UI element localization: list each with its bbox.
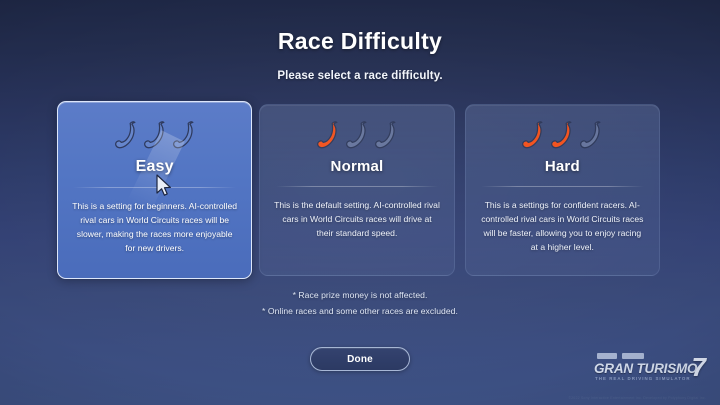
copyright-text: ©2022 Sony Interactive Entertainment Inc…: [568, 396, 706, 400]
difficulty-card-list: Easy This is a setting for beginners. AI…: [60, 104, 660, 276]
gran-turismo-logo: GRAN TURISMO 7 THE REAL DRIVING SIMULATO…: [594, 353, 706, 387]
chili-pepper-empty-icon: [173, 120, 195, 151]
chili-pepper-empty-icon: [144, 120, 166, 151]
chili-pepper-empty-icon: [346, 120, 368, 151]
mouse-cursor: [155, 174, 173, 198]
chili-pepper-empty-icon: [115, 120, 137, 151]
logo-seven: 7: [692, 354, 706, 380]
page-title: Race Difficulty: [0, 28, 720, 55]
footnote-list: * Race prize money is not affected. * On…: [0, 288, 720, 320]
pepper-rating-easy: [115, 115, 195, 155]
chili-pepper-empty-icon: [375, 120, 397, 151]
chili-pepper-empty-icon: [580, 120, 602, 151]
footnote-item: * Race prize money is not affected.: [0, 288, 720, 304]
logo-tagline: THE REAL DRIVING SIMULATOR: [595, 376, 691, 381]
chili-pepper-filled-icon: [317, 120, 339, 151]
difficulty-description-easy: This is a setting for beginners. AI-cont…: [72, 200, 238, 256]
difficulty-description-normal: This is the default setting. AI-controll…: [274, 199, 440, 241]
chili-pepper-filled-icon: [551, 120, 573, 151]
difficulty-card-normal[interactable]: Normal This is the default setting. AI-c…: [259, 104, 454, 276]
pepper-rating-normal: [317, 115, 397, 155]
difficulty-label-hard: Hard: [545, 158, 580, 175]
game-screen: Race Difficulty Please select a race dif…: [0, 0, 720, 405]
footnote-item: * Online races and some other races are …: [0, 304, 720, 320]
difficulty-description-hard: This is a settings for confident racers.…: [479, 199, 645, 255]
difficulty-card-hard[interactable]: Hard This is a settings for confident ra…: [465, 104, 660, 276]
done-button[interactable]: Done: [310, 347, 410, 371]
logo-wordmark: GRAN TURISMO: [594, 361, 697, 376]
difficulty-label-normal: Normal: [331, 158, 384, 175]
card-divider: [276, 186, 438, 187]
chili-pepper-filled-icon: [522, 120, 544, 151]
logo-bars-icon: [597, 353, 644, 359]
page-subtitle: Please select a race difficulty.: [0, 70, 720, 82]
pepper-rating-hard: [522, 115, 602, 155]
card-divider: [481, 186, 643, 187]
